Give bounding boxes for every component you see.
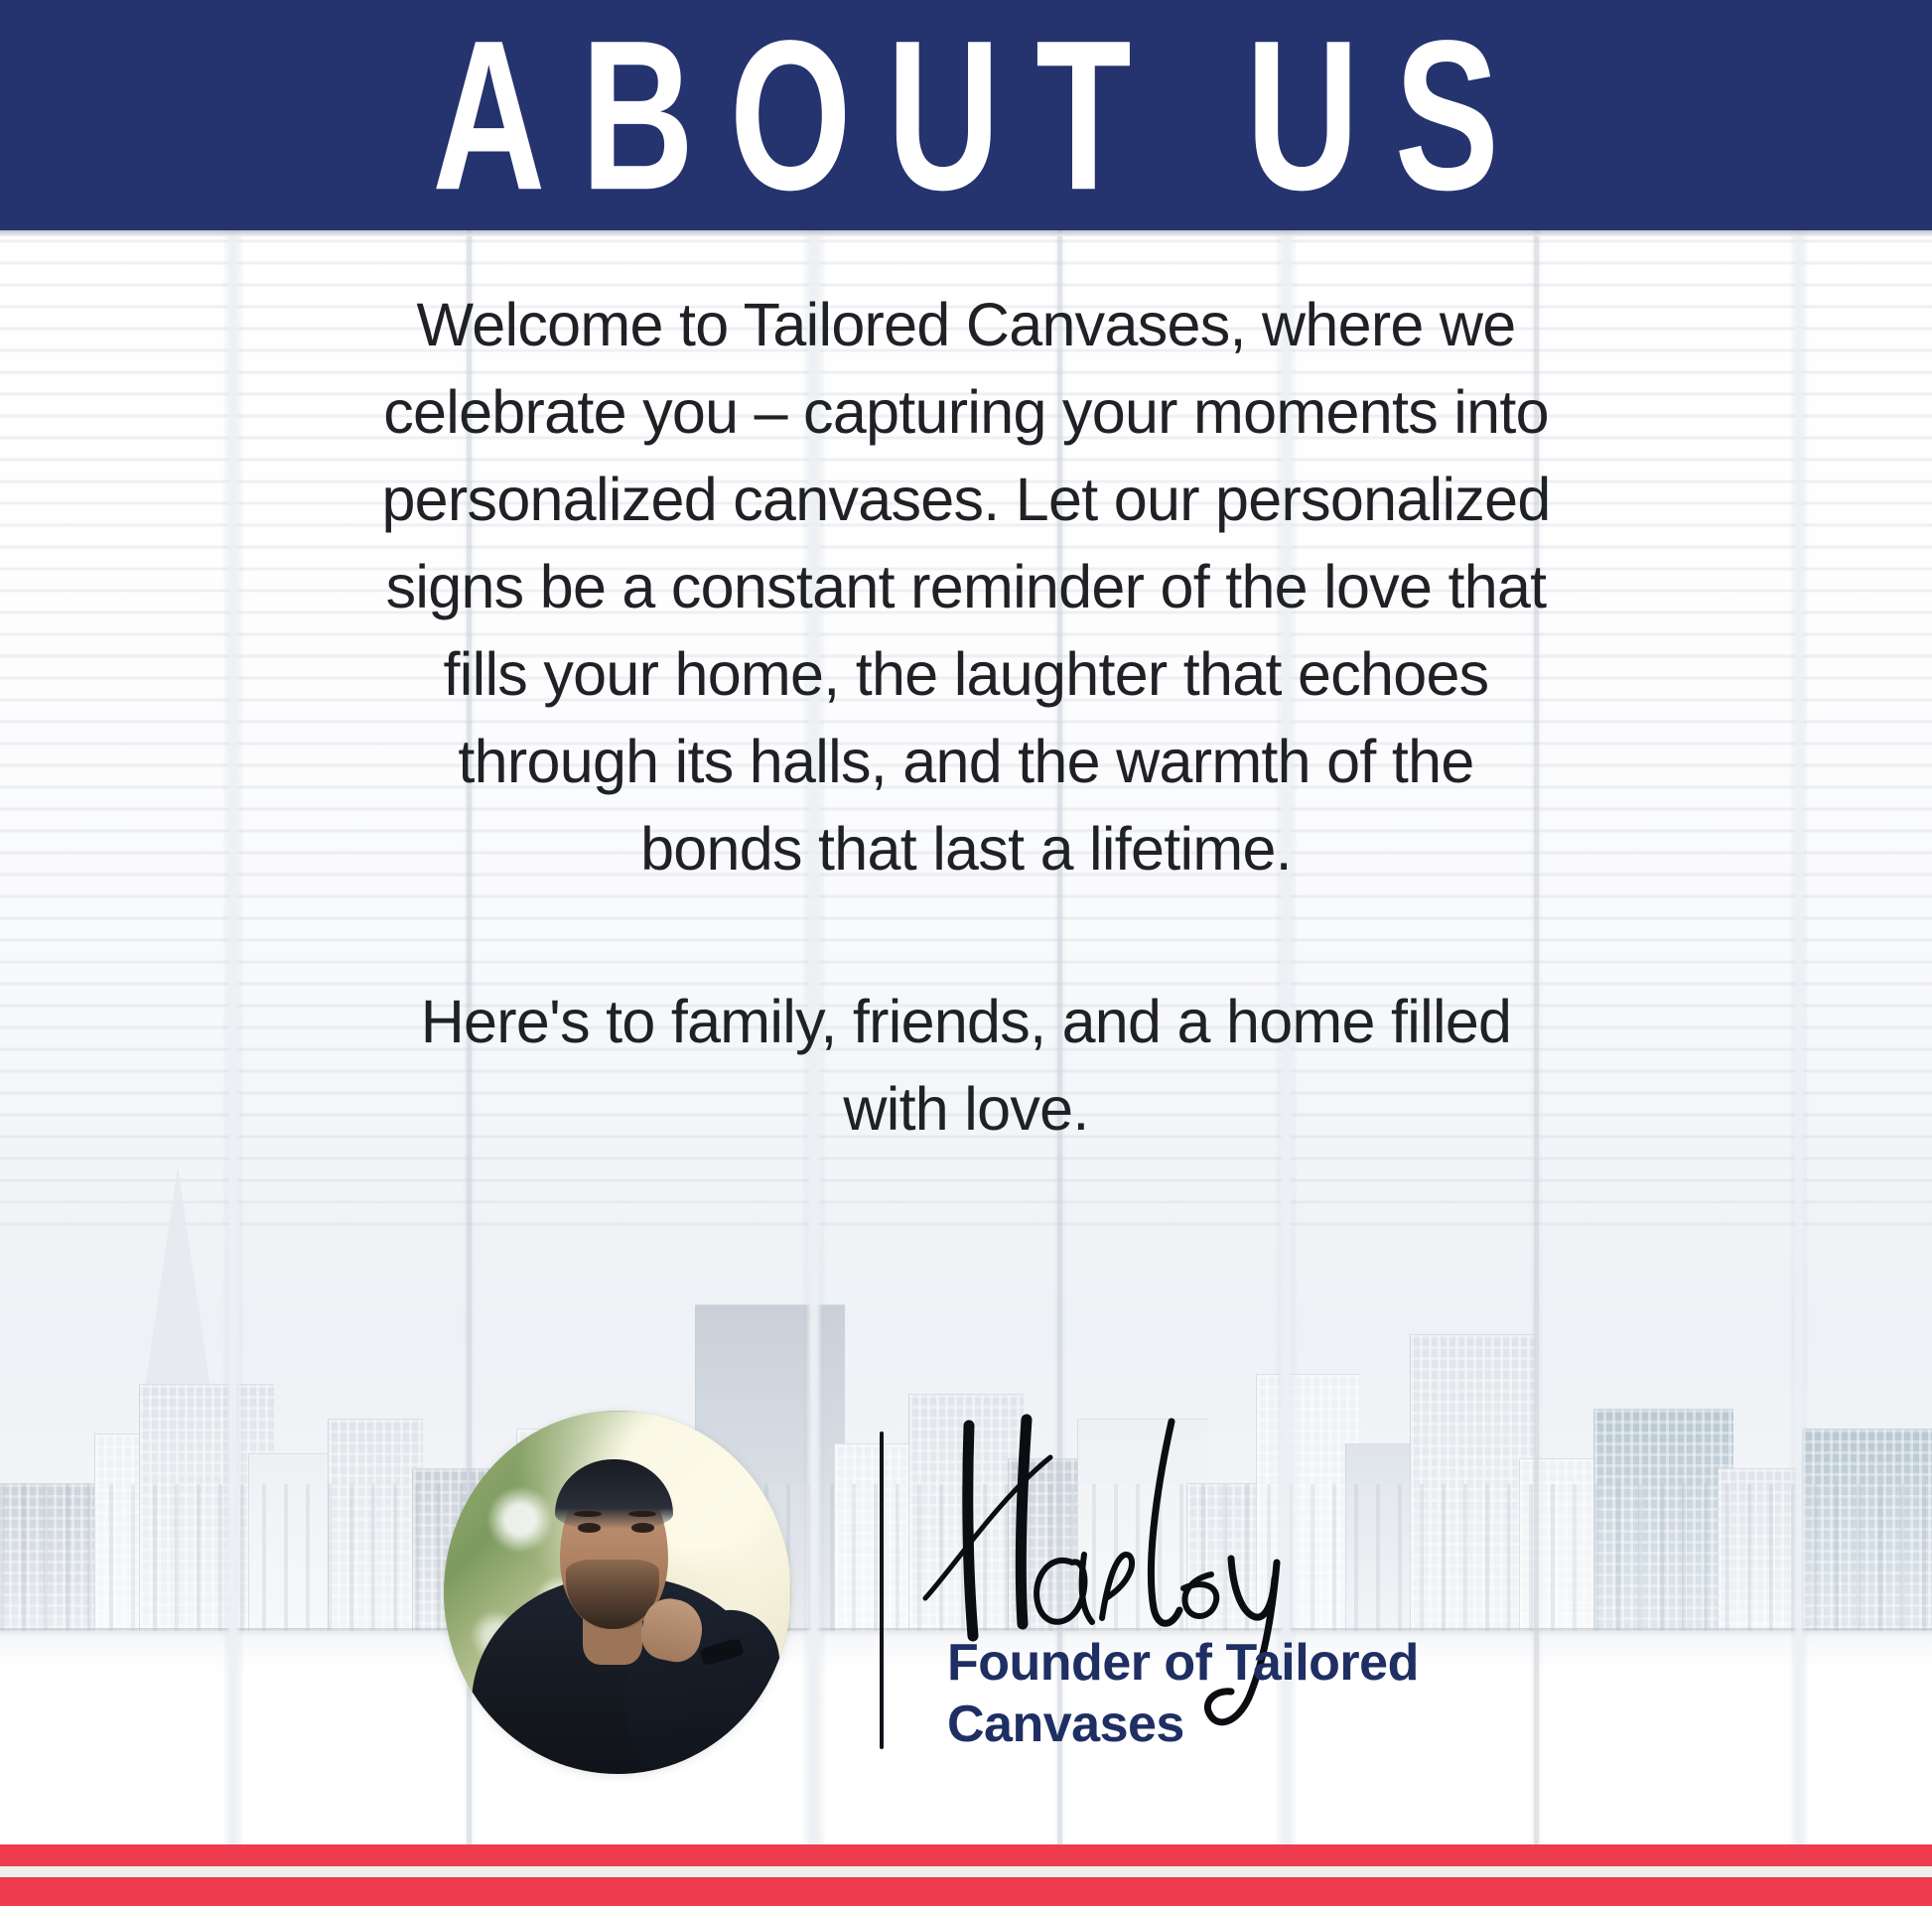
window-mullion [1793, 230, 1805, 1844]
founder-role: Founder of Tailored Canvases [947, 1632, 1463, 1755]
window-mullion [226, 230, 240, 1844]
avatar [444, 1411, 791, 1774]
avatar-eye-right [631, 1523, 654, 1533]
banner-underline [0, 230, 1932, 236]
closing-paragraph: Here's to family, friends, and a home fi… [380, 978, 1552, 1153]
page-title: ABOUT US [397, 8, 1535, 221]
avatar-eye-left [578, 1523, 601, 1533]
footer-stripe-gap [0, 1866, 1932, 1877]
founder-role-line-2: Canvases [947, 1694, 1463, 1755]
footer-stripe-top [0, 1844, 1932, 1866]
footer-stripe-bottom [0, 1877, 1932, 1906]
about-us-copy: Welcome to Tailored Canvases, where we c… [380, 281, 1552, 1153]
paragraph-spacer [380, 892, 1552, 978]
intro-paragraph: Welcome to Tailored Canvases, where we c… [380, 281, 1552, 892]
avatar-eyebrow-right [628, 1511, 656, 1518]
about-us-page: ABOUT US Welcome to Tailored Canvases, w… [0, 0, 1932, 1906]
founder-role-line-1: Founder of Tailored [947, 1632, 1463, 1694]
about-us-banner: ABOUT US [0, 0, 1932, 230]
